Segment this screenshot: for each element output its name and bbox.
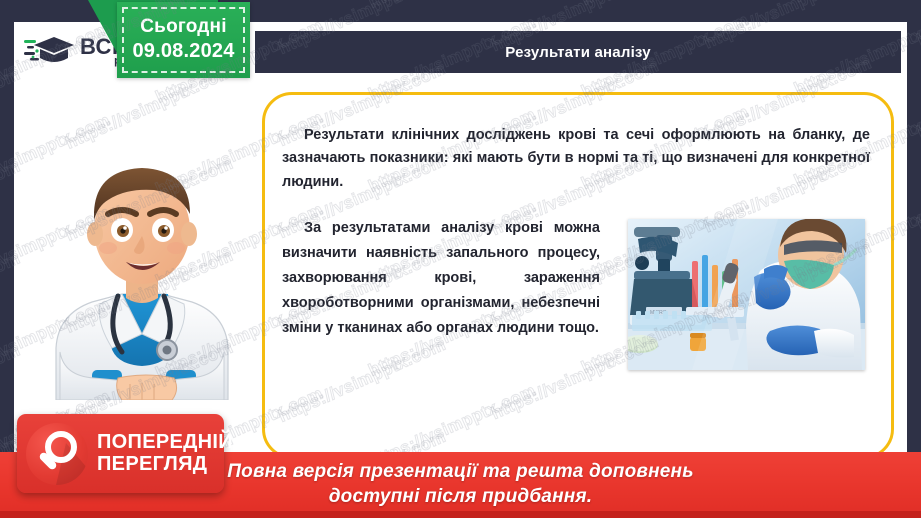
page-title: Результати аналізу [505, 44, 651, 61]
paragraph-one: Результати клінічних досліджень крові та… [282, 124, 870, 194]
preview-badge-line-2: ПЕРЕГЛЯД [97, 454, 233, 475]
slide-title-bar: Результати аналізу [255, 31, 901, 73]
magnifier-icon [26, 423, 88, 485]
purchase-banner-line-2: доступні після придбання. [329, 485, 593, 510]
slide-root: Результати клінічних досліджень крові та… [0, 0, 921, 518]
paragraph-two: За результатами аналізу крові можна визн… [282, 216, 600, 341]
preview-badge-text: ПОПЕРЕДНІЙ ПЕРЕГЛЯД [97, 432, 233, 474]
preview-badge-line-1: ПОПЕРЕДНІЙ [97, 432, 233, 453]
today-date: 09.08.2024 [132, 38, 234, 64]
preview-badge[interactable]: ПОПЕРЕДНІЙ ПЕРЕГЛЯД [17, 414, 224, 493]
today-date-badge: Сьогодні 09.08.2024 [117, 2, 250, 78]
today-label: Сьогодні [140, 16, 226, 38]
doctor-illustration [34, 138, 249, 400]
graduation-cap-icon [24, 33, 76, 69]
lab-photo: MICRO [628, 219, 865, 370]
purchase-banner-line-1: Повна версія презентації та решта доповн… [227, 460, 693, 485]
